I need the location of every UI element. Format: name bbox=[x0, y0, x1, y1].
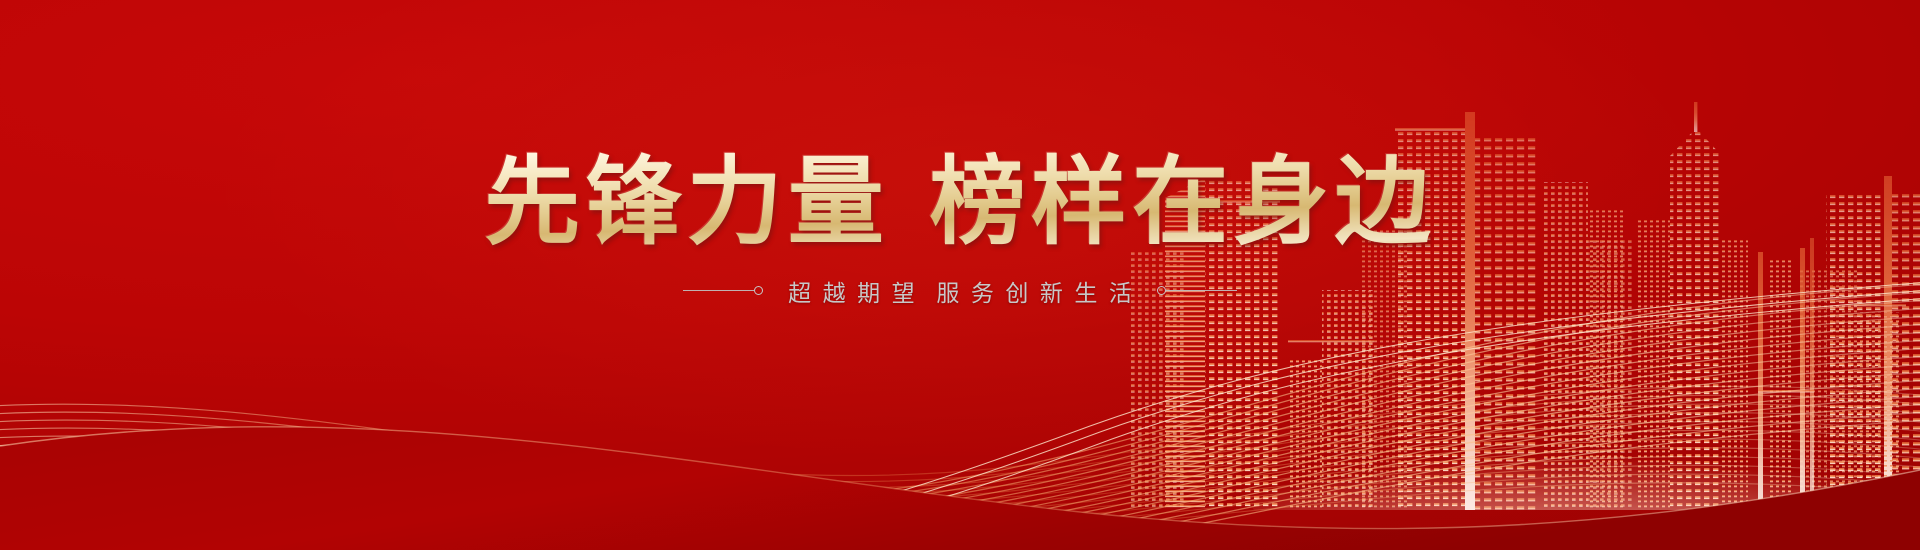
horizontal-rule-right-icon bbox=[1165, 290, 1237, 291]
circle-marker-left-icon bbox=[754, 286, 763, 295]
subtitle-part-2: 服务创新生活 bbox=[936, 280, 1143, 306]
horizontal-rule-left-icon bbox=[683, 290, 755, 291]
headline-part-2: 榜样在身边 bbox=[930, 149, 1436, 256]
page-title: 先锋力量榜样在身边 bbox=[484, 152, 1436, 254]
headline-part-1: 先锋力量 bbox=[484, 149, 889, 256]
promo-banner: 先锋力量榜样在身边 超越期望服务创新生活 bbox=[0, 0, 1920, 550]
subtitle-part-1: 超越期望 bbox=[788, 280, 926, 306]
subtitle-left-decoration bbox=[683, 286, 763, 295]
subtitle-row: 超越期望服务创新生活 bbox=[0, 274, 1920, 308]
banner-copy-block: 先锋力量榜样在身边 超越期望服务创新生活 bbox=[0, 152, 1920, 308]
page-subtitle: 超越期望服务创新生活 bbox=[777, 274, 1144, 308]
subtitle-right-decoration bbox=[1157, 286, 1237, 295]
